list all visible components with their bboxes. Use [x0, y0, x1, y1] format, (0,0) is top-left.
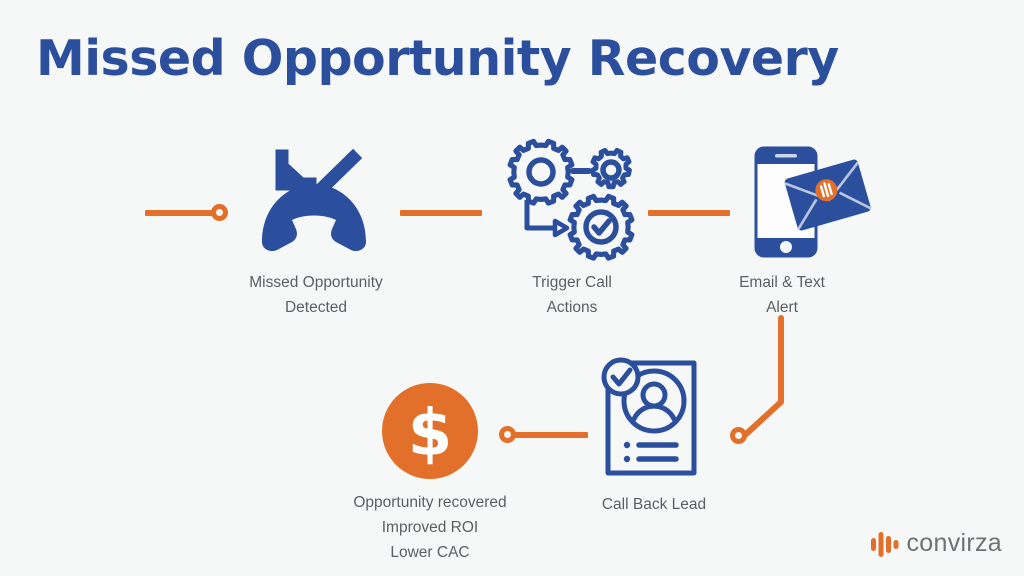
step-missed-opportunity[interactable] — [248, 150, 380, 260]
phone-envelope-alert-icon — [742, 140, 860, 260]
gears-automation-icon — [505, 140, 640, 260]
waveform-bars-icon — [870, 530, 900, 558]
connector-line-step2-step3 — [648, 210, 730, 216]
slide-canvas: Missed Opportunity Recovery Missed Oppor… — [0, 0, 1024, 576]
connector-ring-step4 — [730, 427, 747, 444]
step-label-email-text-alert: Email & Text Alert — [702, 270, 862, 320]
connector-line-step1-step2 — [400, 210, 482, 216]
step-email-text-alert[interactable] — [742, 140, 860, 260]
svg-text:$: $ — [408, 397, 453, 471]
connector-path-step3-step4 — [710, 318, 790, 453]
step-label-trigger-call-actions: Trigger Call Actions — [488, 270, 656, 320]
logo-wordmark: convirza — [907, 529, 1003, 558]
missed-call-icon — [248, 150, 380, 260]
lead-document-icon — [596, 355, 712, 480]
step-label-call-back-lead: Call Back Lead — [574, 492, 734, 517]
connector-line-step5-step4 — [515, 432, 588, 438]
connector-ring-start — [211, 204, 228, 221]
convirza-logo: convirza — [870, 529, 1003, 558]
step-opportunity-recovered[interactable]: $ — [381, 382, 479, 480]
dollar-coin-icon: $ — [381, 382, 479, 480]
connector-ring-step5 — [499, 426, 516, 443]
step-trigger-call-actions[interactable] — [505, 140, 640, 260]
step-call-back-lead[interactable] — [596, 355, 712, 480]
step-label-missed-opportunity: Missed Opportunity Detected — [214, 270, 418, 320]
page-title: Missed Opportunity Recovery — [36, 30, 839, 87]
step-label-opportunity-recovered: Opportunity recovered Improved ROI Lower… — [312, 490, 548, 565]
